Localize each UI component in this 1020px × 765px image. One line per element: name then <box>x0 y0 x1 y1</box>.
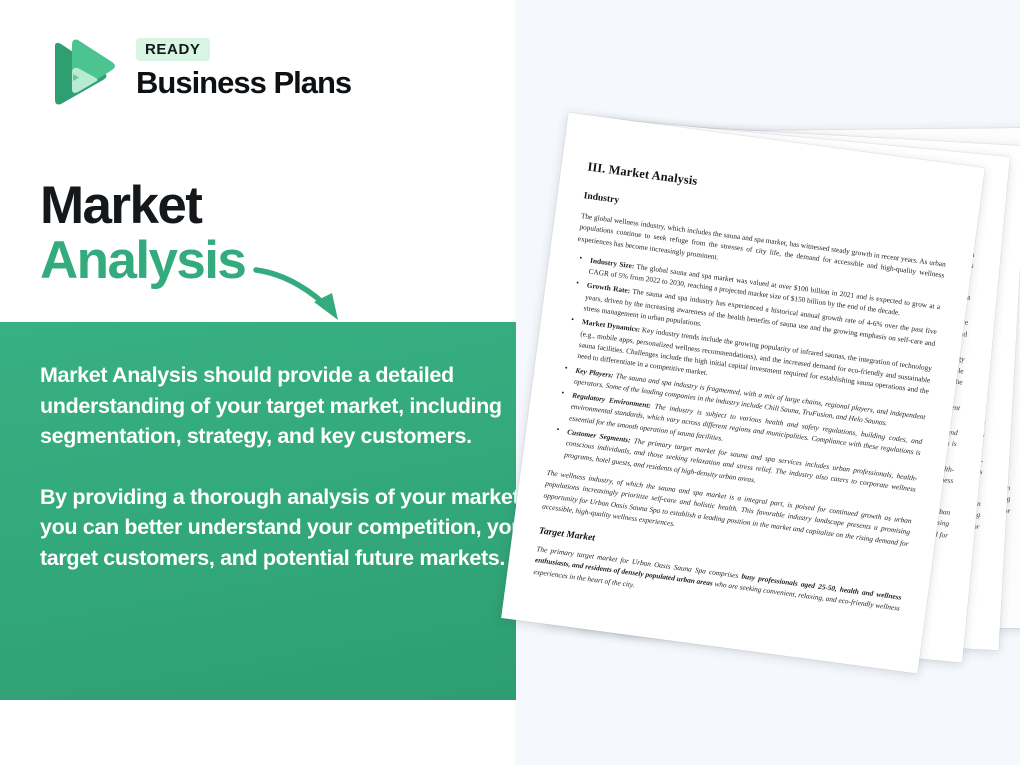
slide-canvas: READY Business Plans Market Analysis Mar… <box>0 0 1020 765</box>
page-title: Market Analysis <box>40 178 245 288</box>
callout-panel: Market Analysis should provide a detaile… <box>0 322 516 700</box>
doc-heading: III. Market Analysis <box>587 160 954 224</box>
document-stack: III. Market Analysis Industry The global… <box>515 0 1020 765</box>
play-triangle-logo-icon <box>40 34 118 112</box>
doc-bullet-list: Industry Size: The global sauna and spa … <box>549 253 941 507</box>
page-title-line2: Analysis <box>40 233 245 288</box>
brand-name: Business Plans <box>136 66 351 100</box>
page-title-line1: Market <box>40 178 245 233</box>
callout-paragraph-1: Market Analysis should provide a detaile… <box>40 360 516 452</box>
callout-paragraph-2: By providing a thorough analysis of your… <box>40 482 516 574</box>
callout-text-group: Market Analysis should provide a detaile… <box>40 360 516 573</box>
brand-logo[interactable]: READY Business Plans <box>40 34 370 120</box>
document-page-front[interactable]: III. Market Analysis Industry The global… <box>501 112 985 673</box>
ready-badge: READY <box>136 38 210 61</box>
curved-arrow-icon <box>252 262 372 330</box>
brand-wordmark: READY Business Plans <box>136 38 351 100</box>
